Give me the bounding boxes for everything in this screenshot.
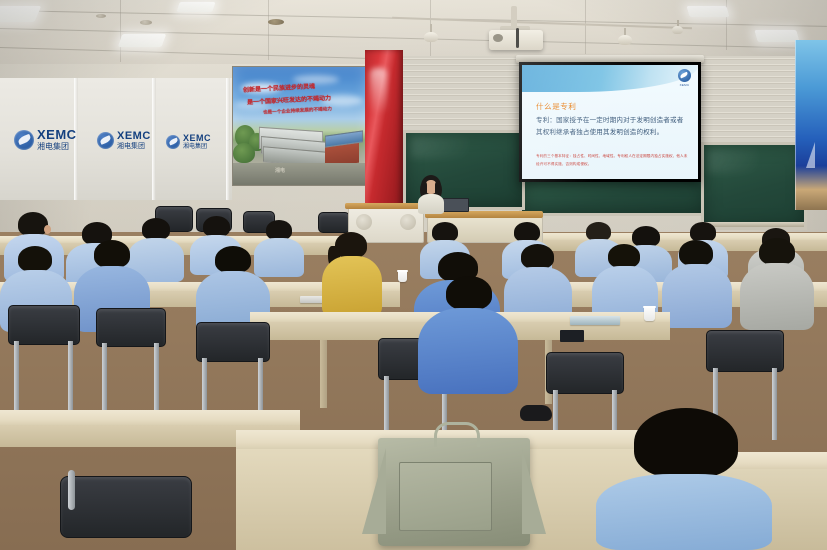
handbag <box>378 438 530 546</box>
chair-foreground[interactable] <box>60 470 190 550</box>
slide-title: 什么是专利 <box>536 101 577 112</box>
audience-member-foreground <box>596 408 772 550</box>
ceiling-light-panel <box>0 6 41 22</box>
chalkboard-right <box>701 142 807 230</box>
ceiling-light-panel <box>686 6 729 17</box>
ceiling-seam <box>120 0 121 62</box>
red-pillar <box>365 50 403 215</box>
slide: XEMC 什么是专利 专利：国家授予在一定时期内对于发明创造者或者其权利继承者独… <box>522 65 698 179</box>
xemc-logo-en: XEMC <box>37 128 77 141</box>
ceiling-seam <box>268 0 269 60</box>
paper-cup <box>398 270 407 282</box>
ceiling-light-panel <box>176 2 215 12</box>
xemc-logo: XEMC 湘电集团 <box>166 134 211 150</box>
slide-body-text: 专利：国家授予在一定时期内对于发明创造者或者其权利继承者独占使用其发明创造的权利… <box>536 115 686 139</box>
slide-xemc-logo: XEMC <box>678 69 691 87</box>
ceiling-vent <box>96 14 106 18</box>
presenter <box>414 175 448 211</box>
audience-member-female <box>322 232 382 316</box>
desk-leg <box>320 338 327 408</box>
projector-cable <box>516 28 519 48</box>
presenter-torso <box>418 194 444 214</box>
shoe <box>520 405 552 421</box>
mural-calligraphy-line3: 也是一个企业持续发展的不竭动力 <box>263 106 332 116</box>
mural-calligraphy-line2: 是一个国家兴旺发达的不竭动力 <box>247 93 331 106</box>
projector-mount <box>511 6 517 28</box>
phone <box>560 330 584 342</box>
xemc-logo: XEMC 湘电集团 <box>97 131 151 150</box>
ceiling-vent <box>140 20 152 25</box>
ceiling-light-panel <box>754 30 799 42</box>
projection-screen[interactable]: XEMC 什么是专利 专利：国家授予在一定时期内对于发明创造者或者其权利继承者独… <box>519 62 701 182</box>
slide-logo-text: XEMC <box>678 83 691 87</box>
projector-lens <box>493 34 503 42</box>
lectern-top <box>345 203 425 209</box>
xemc-logo-en: XEMC <box>117 131 151 142</box>
slide-note-text: 专利的三个基本特征：独占性、时间性、地域性。专利权人在法定期限内独占实施权，他人… <box>536 153 691 168</box>
ceiling-vent <box>268 19 284 25</box>
ceiling-seam <box>585 0 586 54</box>
corporate-mural: 创新是一个民族进步的灵魂 是一个国家兴旺发达的不竭动力 也是一个企业持续发展的不… <box>232 66 367 186</box>
audience-member <box>662 240 732 328</box>
xemc-logo-cn: 湘电集团 <box>117 143 151 150</box>
slide-header-band <box>522 65 698 92</box>
wall-speaker <box>400 214 416 230</box>
classroom-scene: XEMC 湘电集团 XEMC 湘电集团 XEMC 湘电集团 创新是一个民族进步的… <box>0 0 827 550</box>
blue-wall-banner <box>795 40 827 210</box>
xemc-logo-cn: 湘电集团 <box>183 144 211 150</box>
audience-member <box>418 276 518 394</box>
xemc-logo: XEMC 湘电集团 <box>14 128 77 151</box>
ceiling-light-panel <box>118 34 167 47</box>
xemc-logo-cn: 湘电集团 <box>37 143 77 151</box>
wall-speaker <box>356 214 372 230</box>
paper-cup <box>644 306 655 321</box>
xemc-logo-en: XEMC <box>183 134 211 143</box>
audience-member-grey <box>740 238 814 330</box>
notebook <box>570 316 620 325</box>
